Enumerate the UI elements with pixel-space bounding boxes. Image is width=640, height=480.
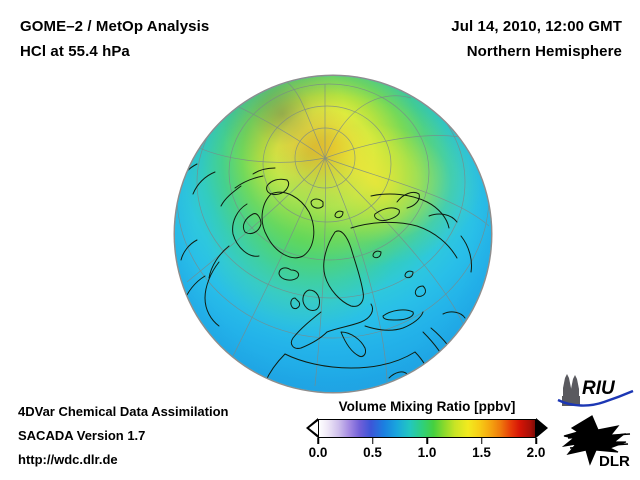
colorbar-tick-label: 0.5 <box>363 445 382 460</box>
colorbar: Volume Mixing Ratio [ppbv] 0.00.51.01.52… <box>306 399 548 463</box>
colorbar-gradient <box>318 419 536 438</box>
region-label: Northern Hemisphere <box>451 39 622 64</box>
dlr-wordmark: DLR <box>599 453 630 470</box>
page-title: GOME–2 / MetOp Analysis <box>20 14 209 39</box>
version-label: SACADA Version 1.7 <box>18 424 229 448</box>
colorbar-tick <box>481 438 483 444</box>
visualization-canvas: GOME–2 / MetOp Analysis HCl at 55.4 hPa … <box>0 0 640 480</box>
cathedral-icon <box>562 374 580 406</box>
globe-map <box>175 76 491 392</box>
colorbar-ticks <box>306 438 548 444</box>
colorbar-tick-label: 2.0 <box>527 445 546 460</box>
colorbar-tick-label: 0.0 <box>309 445 328 460</box>
colorbar-tick-label: 1.0 <box>418 445 437 460</box>
species-level-label: HCl at 55.4 hPa <box>20 39 209 64</box>
dlr-logo: DLR <box>562 412 636 470</box>
header-right: Jul 14, 2010, 12:00 GMT Northern Hemisph… <box>451 14 622 64</box>
footer-credits: 4DVar Chemical Data Assimilation SACADA … <box>18 400 229 472</box>
colorbar-title: Volume Mixing Ratio [ppbv] <box>306 399 548 414</box>
colorbar-tick-label: 1.5 <box>472 445 491 460</box>
website-url[interactable]: http://wdc.dlr.de <box>18 448 229 472</box>
coastlines <box>175 76 491 392</box>
header-left: GOME–2 / MetOp Analysis HCl at 55.4 hPa <box>20 14 209 64</box>
riu-logo: RIU <box>556 372 634 408</box>
colorbar-tick-labels: 0.00.51.01.52.0 <box>306 445 548 463</box>
colorbar-tick <box>317 438 319 444</box>
colorbar-tick <box>426 438 428 444</box>
globe-disc <box>175 76 491 392</box>
colorbar-bar <box>306 418 548 438</box>
method-label: 4DVar Chemical Data Assimilation <box>18 400 229 424</box>
colorbar-tick <box>372 438 374 444</box>
riu-wordmark: RIU <box>582 378 616 399</box>
colorbar-under-arrow-icon <box>306 418 318 438</box>
datetime-label: Jul 14, 2010, 12:00 GMT <box>451 14 622 39</box>
colorbar-over-arrow-icon <box>536 418 548 438</box>
colorbar-tick <box>535 438 537 444</box>
